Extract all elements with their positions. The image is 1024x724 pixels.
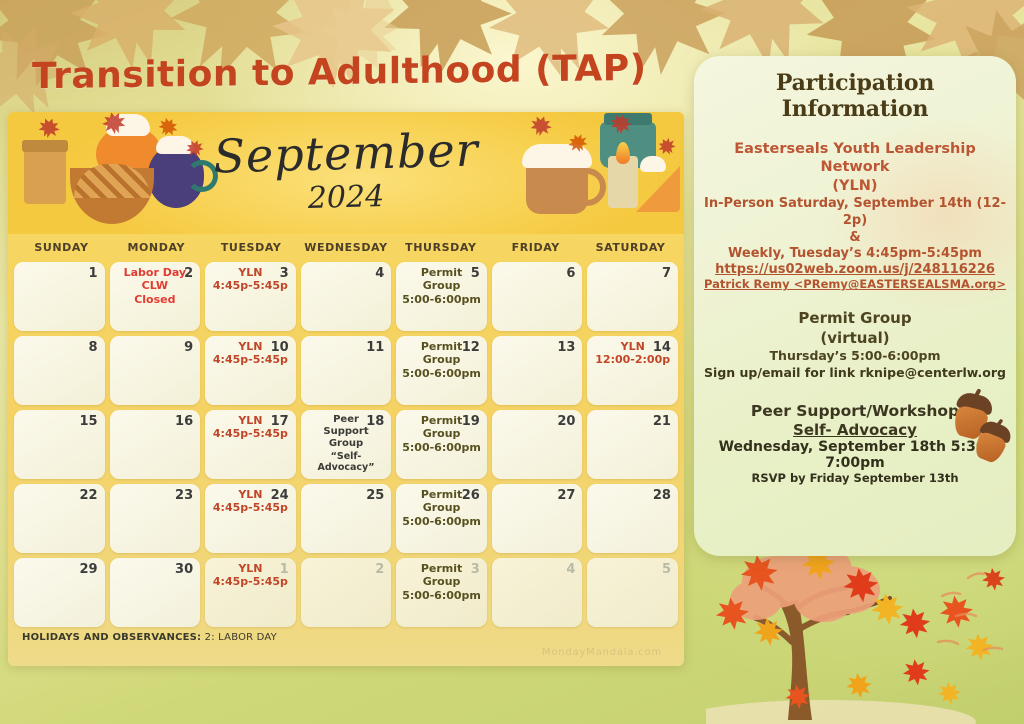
calendar: September 2024 SUNDAYMONDAYTUESDAYWEDNES…: [8, 112, 684, 666]
calendar-day-number: 21: [653, 414, 671, 429]
weekday-header-saturday: SATURDAY: [583, 241, 678, 254]
permit-group-signup: Sign up/email for link rknipe@centerlw.o…: [702, 365, 1008, 382]
calendar-credit: MondayMandala.com: [542, 647, 662, 658]
calendar-day-cell[interactable]: PermitGroup5:00-6:00pm5: [396, 262, 487, 331]
calendar-banner: September 2024: [8, 112, 684, 234]
calendar-week-row: 2930YLN4:45p-5:45p12PermitGroup5:00-6:00…: [14, 558, 678, 627]
panel-title: Participation Information: [702, 70, 1008, 122]
calendar-day-cell[interactable]: 4: [492, 558, 583, 627]
calendar-day-number: 1: [280, 562, 289, 577]
calendar-day-cell[interactable]: 15: [14, 410, 105, 479]
calendar-day-number: 5: [471, 266, 480, 281]
yln-heading-line2: (YLN): [702, 177, 1008, 195]
weekday-header-thursday: THURSDAY: [393, 241, 488, 254]
holidays-value: 2: LABOR DAY: [201, 632, 277, 643]
calendar-day-number: 3: [471, 562, 480, 577]
calendar-day-cell[interactable]: 25: [301, 484, 392, 553]
calendar-day-cell[interactable]: 6: [492, 262, 583, 331]
yln-in-person: In-Person Saturday, September 14th (12-2…: [702, 195, 1008, 230]
yln-heading-line1: Easterseals Youth Leadership Network: [702, 140, 1008, 177]
calendar-day-number: 11: [366, 340, 384, 355]
calendar-weekday-header: SUNDAYMONDAYTUESDAYWEDNESDAYTHURSDAYFRID…: [8, 234, 684, 260]
holidays-label: HOLIDAYS AND OBSERVANCES:: [22, 632, 201, 643]
calendar-day-number: 4: [566, 562, 575, 577]
calendar-day-number: 13: [557, 340, 575, 355]
participation-information-panel: Participation Information Easterseals Yo…: [694, 56, 1016, 556]
calendar-day-number: 12: [462, 340, 480, 355]
calendar-day-cell[interactable]: YLN4:45p-5:45p3: [205, 262, 296, 331]
calendar-day-number: 22: [79, 488, 97, 503]
calendar-day-number: 1: [89, 266, 98, 281]
calendar-day-cell[interactable]: 20: [492, 410, 583, 479]
calendar-day-number: 23: [175, 488, 193, 503]
yln-contact-email[interactable]: Patrick Remy <PRemy@EASTERSEALSMA.org>: [702, 277, 1008, 291]
calendar-day-cell[interactable]: 2: [301, 558, 392, 627]
weekday-header-tuesday: TUESDAY: [204, 241, 299, 254]
calendar-day-cell[interactable]: PermitGroup5:00-6:00pm3: [396, 558, 487, 627]
yln-weekly: Weekly, Tuesday’s 4:45pm-5:45pm: [702, 245, 1008, 263]
calendar-day-number: 9: [184, 340, 193, 355]
yln-section: Easterseals Youth Leadership Network (YL…: [702, 140, 1008, 291]
calendar-day-number: 29: [79, 562, 97, 577]
permit-group-when: Thursday’s 5:00-6:00pm: [702, 348, 1008, 365]
calendar-day-cell[interactable]: Labor DayCLWClosed2: [110, 262, 201, 331]
calendar-day-number: 4: [375, 266, 384, 281]
page-title: Transition to Adulthood (TAP): [32, 47, 647, 97]
calendar-grid: 1Labor DayCLWClosed2YLN4:45p-5:45p34Perm…: [8, 260, 684, 627]
calendar-day-number: 27: [557, 488, 575, 503]
yln-ampersand: &: [702, 230, 1008, 245]
peer-support-topic: Self- Advocacy: [793, 421, 917, 439]
calendar-day-cell[interactable]: YLN12:00-2:00p14: [587, 336, 678, 405]
calendar-day-number: 24: [271, 488, 289, 503]
autumn-tree-illustration: [706, 538, 1016, 724]
calendar-day-number: 17: [271, 414, 289, 429]
calendar-day-number: 20: [557, 414, 575, 429]
calendar-day-number: 26: [462, 488, 480, 503]
calendar-day-number: 14: [653, 340, 671, 355]
calendar-day-cell[interactable]: 4: [301, 262, 392, 331]
weekday-header-monday: MONDAY: [109, 241, 204, 254]
calendar-week-row: 1Labor DayCLWClosed2YLN4:45p-5:45p34Perm…: [14, 262, 678, 331]
calendar-day-cell[interactable]: 28: [587, 484, 678, 553]
calendar-day-cell[interactable]: 29: [14, 558, 105, 627]
calendar-day-number: 8: [89, 340, 98, 355]
calendar-week-row: 89YLN4:45p-5:45p1011PermitGroup5:00-6:00…: [14, 336, 678, 405]
calendar-day-cell[interactable]: 7: [587, 262, 678, 331]
calendar-day-cell[interactable]: 9: [110, 336, 201, 405]
calendar-week-row: 1516YLN4:45p-5:45p17PeerSupportGroup“Sel…: [14, 410, 678, 479]
calendar-day-cell[interactable]: PermitGroup5:00-6:00pm12: [396, 336, 487, 405]
calendar-day-cell[interactable]: 21: [587, 410, 678, 479]
permit-group-section: Permit Group (virtual) Thursday’s 5:00-6…: [702, 309, 1008, 382]
calendar-day-cell[interactable]: PermitGroup5:00-6:00pm19: [396, 410, 487, 479]
holidays-and-observances: HOLIDAYS AND OBSERVANCES: 2: LABOR DAY: [22, 632, 670, 643]
calendar-day-number: 16: [175, 414, 193, 429]
calendar-day-number: 7: [662, 266, 671, 281]
weekday-header-friday: FRIDAY: [488, 241, 583, 254]
calendar-day-cell[interactable]: 22: [14, 484, 105, 553]
page-title-band: Transition to Adulthood (TAP): [0, 38, 690, 106]
calendar-day-number: 6: [566, 266, 575, 281]
peer-support-rsvp: RSVP by Friday September 13th: [702, 471, 1008, 485]
calendar-day-cell[interactable]: PeerSupportGroup“Self-Advocacy”18: [301, 410, 392, 479]
calendar-day-number: 19: [462, 414, 480, 429]
peer-support-section: Peer Support/Workshop Self- Advocacy Wed…: [702, 402, 1008, 485]
calendar-footer: HOLIDAYS AND OBSERVANCES: 2: LABOR DAY M…: [8, 628, 684, 666]
yln-zoom-link[interactable]: https://us02web.zoom.us/j/248116226: [702, 262, 1008, 277]
permit-group-title: Permit Group: [702, 309, 1008, 329]
calendar-day-cell[interactable]: PermitGroup5:00-6:00pm26: [396, 484, 487, 553]
calendar-day-cell[interactable]: 5: [587, 558, 678, 627]
calendar-day-number: 5: [662, 562, 671, 577]
calendar-day-cell[interactable]: 8: [14, 336, 105, 405]
calendar-day-cell[interactable]: YLN4:45p-5:45p10: [205, 336, 296, 405]
calendar-day-number: 28: [653, 488, 671, 503]
calendar-day-cell[interactable]: 27: [492, 484, 583, 553]
calendar-day-number: 3: [280, 266, 289, 281]
calendar-day-number: 25: [366, 488, 384, 503]
weekday-header-wednesday: WEDNESDAY: [299, 241, 394, 254]
calendar-day-cell[interactable]: YLN4:45p-5:45p17: [205, 410, 296, 479]
calendar-day-cell[interactable]: YLN4:45p-5:45p24: [205, 484, 296, 553]
calendar-day-cell[interactable]: 23: [110, 484, 201, 553]
calendar-day-cell[interactable]: 13: [492, 336, 583, 405]
calendar-day-cell[interactable]: 11: [301, 336, 392, 405]
calendar-day-number: 18: [366, 414, 384, 429]
calendar-day-number: 2: [375, 562, 384, 577]
calendar-day-cell[interactable]: YLN4:45p-5:45p1: [205, 558, 296, 627]
calendar-day-number: 10: [271, 340, 289, 355]
calendar-day-cell[interactable]: 1: [14, 262, 105, 331]
calendar-day-number: 30: [175, 562, 193, 577]
weekday-header-sunday: SUNDAY: [14, 241, 109, 254]
calendar-day-number: 15: [79, 414, 97, 429]
peer-support-when: Wednesday, September 18th 5:30-7:00pm: [702, 439, 1008, 471]
calendar-day-cell[interactable]: 16: [110, 410, 201, 479]
calendar-day-number: 2: [184, 266, 193, 281]
permit-group-virtual: (virtual): [702, 329, 1008, 349]
calendar-day-cell[interactable]: 30: [110, 558, 201, 627]
calendar-week-row: 2223YLN4:45p-5:45p2425PermitGroup5:00-6:…: [14, 484, 678, 553]
